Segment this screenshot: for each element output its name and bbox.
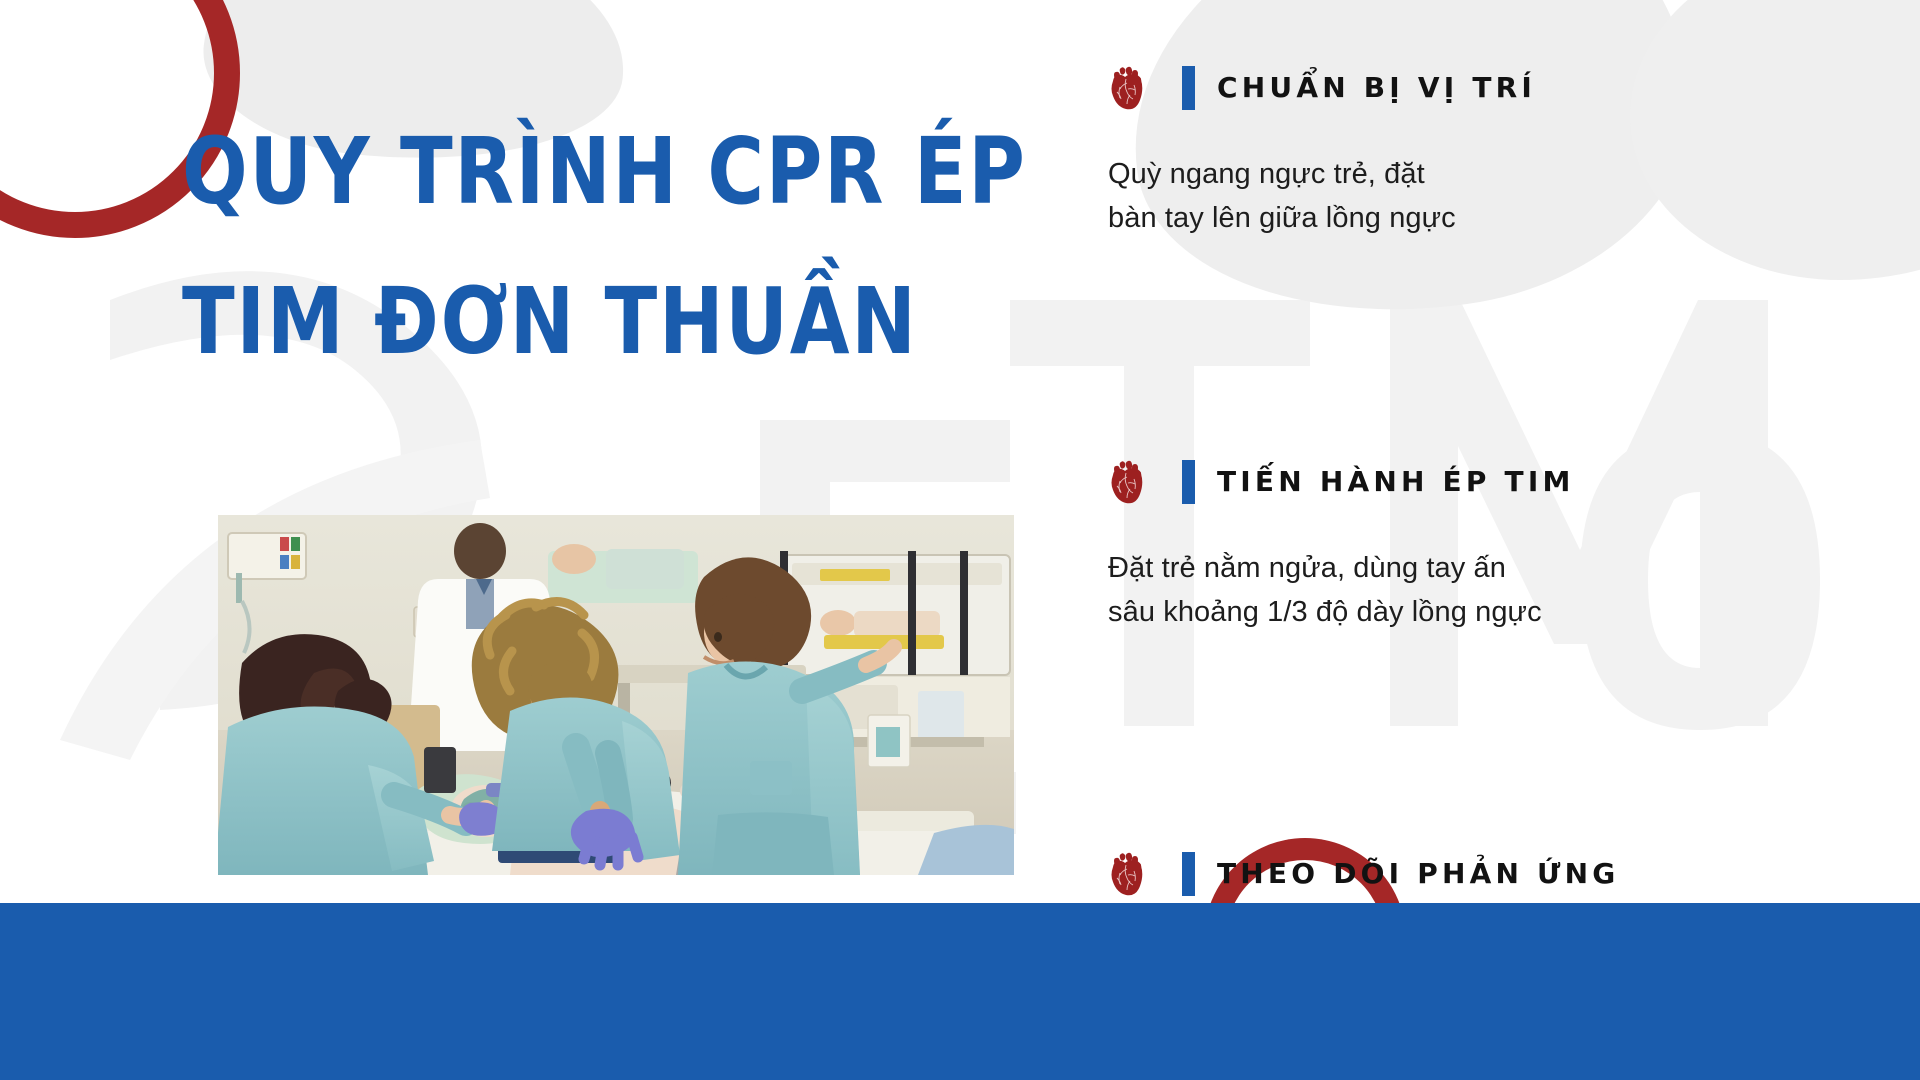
cpr-training-photo-graphic xyxy=(218,515,1014,875)
slide-canvas: QUY TRÌNH CPR ÉP TIM ĐƠN THUẦN xyxy=(0,0,1920,1080)
step-3-accent-bar xyxy=(1182,852,1195,896)
step-1-header: CHUẨN BỊ VỊ TRÍ xyxy=(1108,62,1828,114)
anatomical-heart-icon xyxy=(1108,460,1144,504)
step-item-1: CHUẨN BỊ VỊ TRÍ Quỳ ngang ngực trẻ, đặt … xyxy=(1108,62,1828,240)
steps-list: CHUẨN BỊ VỊ TRÍ Quỳ ngang ngực trẻ, đặt … xyxy=(1108,62,1828,1026)
step-1-title: CHUẨN BỊ VỊ TRÍ xyxy=(1217,74,1536,102)
step-item-2: TIẾN HÀNH ÉP TIM Đặt trẻ nằm ngửa, dùng … xyxy=(1108,456,1828,634)
title-line-1: QUY TRÌNH CPR ÉP xyxy=(182,128,938,216)
blue-footer-bar xyxy=(0,903,1920,1080)
page-title: QUY TRÌNH CPR ÉP TIM ĐƠN THUẦN xyxy=(182,128,1082,367)
step-1-body-line-2: bàn tay lên giữa lồng ngực xyxy=(1108,196,1828,240)
step-2-title: TIẾN HÀNH ÉP TIM xyxy=(1217,468,1575,496)
step-2-body: Đặt trẻ nằm ngửa, dùng tay ấn sâu khoảng… xyxy=(1108,546,1828,634)
step-2-body-line-1: Đặt trẻ nằm ngửa, dùng tay ấn xyxy=(1108,546,1828,590)
step-1-body: Quỳ ngang ngực trẻ, đặt bàn tay lên giữa… xyxy=(1108,152,1828,240)
step-2-body-line-2: sâu khoảng 1/3 độ dày lồng ngực xyxy=(1108,590,1828,634)
anatomical-heart-icon xyxy=(1108,852,1144,896)
step-2-header: TIẾN HÀNH ÉP TIM xyxy=(1108,456,1828,508)
step-1-accent-bar xyxy=(1182,66,1195,110)
step-1-body-line-1: Quỳ ngang ngực trẻ, đặt xyxy=(1108,152,1828,196)
cpr-training-photo xyxy=(218,515,1014,875)
anatomical-heart-icon xyxy=(1108,66,1144,110)
step-3-header: THEO DÕI PHẢN ỨNG xyxy=(1108,848,1828,900)
title-line-2: TIM ĐƠN THUẦN xyxy=(182,278,938,366)
step-2-accent-bar xyxy=(1182,460,1195,504)
step-3-title: THEO DÕI PHẢN ỨNG xyxy=(1217,860,1619,888)
